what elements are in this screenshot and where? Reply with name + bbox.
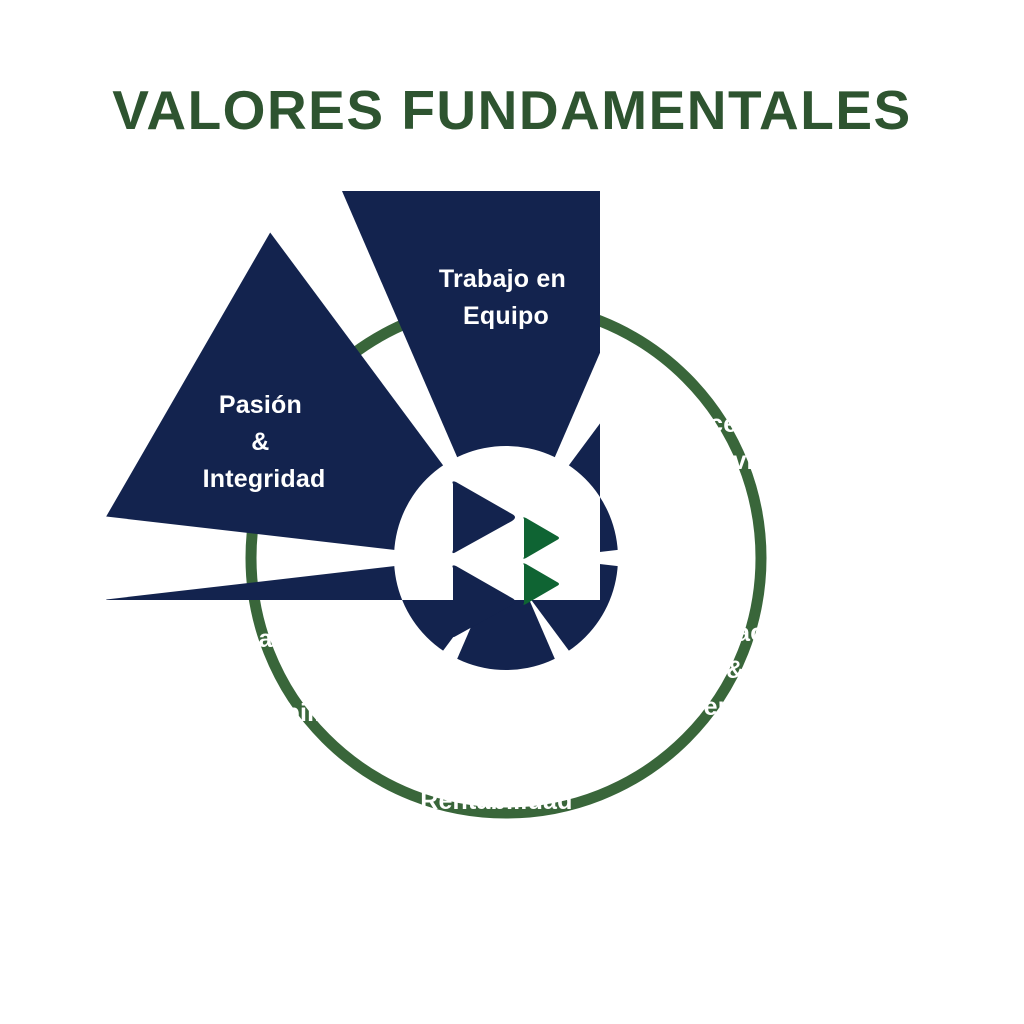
wedge-label-transparencia-responsabilidad: Transparencia & Responsabilidad <box>163 625 366 727</box>
label-line: Emprendimiento <box>639 693 839 721</box>
label-line: Crecimiento <box>427 861 574 889</box>
label-line: Innovación <box>668 619 802 647</box>
label-line: Transparencia <box>175 625 348 653</box>
label-line: Pasión <box>219 391 302 419</box>
label-line: & <box>487 824 505 852</box>
values-infographic: VALORES FUNDAMENTALES <box>0 0 1024 1024</box>
label-line: & <box>251 428 269 456</box>
label-line: Responsabilidad <box>163 699 366 727</box>
logo-green-triangle-bottom <box>523 563 559 605</box>
logo-green-triangle-top <box>523 517 559 559</box>
label-line: Servicio <box>692 447 791 475</box>
wedge-label-rentabilidad-crecimiento: Rentabilidad & Crecimiento <box>420 787 580 889</box>
core-values-wheel: Trabajo en Equipo Excelente Servicio Inn… <box>0 0 1024 1024</box>
label-line: & <box>252 662 270 690</box>
label-line: Equipo <box>463 302 549 330</box>
wedge-label-excelente-servicio: Excelente Servicio <box>678 410 804 475</box>
label-line: Rentabilidad <box>420 787 572 815</box>
logo-navy-triangle-top <box>452 481 515 553</box>
label-line: Integridad <box>203 465 326 493</box>
wedge-label-innovacion-emprendimiento: Innovación & Emprendimiento <box>639 619 839 721</box>
label-line: Excelente <box>678 410 797 438</box>
label-line: Trabajo en <box>439 265 566 293</box>
label-line: & <box>726 656 744 684</box>
